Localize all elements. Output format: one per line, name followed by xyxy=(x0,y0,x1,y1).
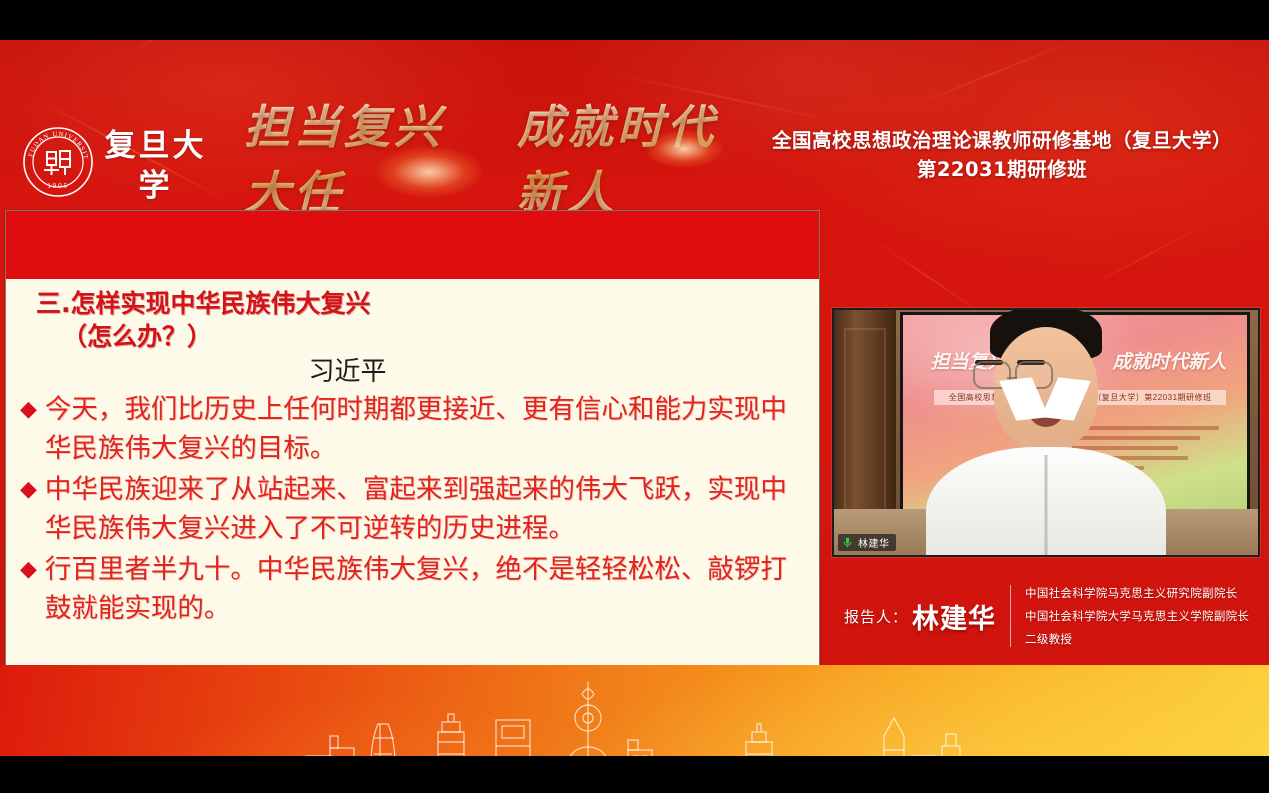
diamond-bullet-icon: ◆ xyxy=(20,389,37,429)
screen-slogan-right: 成就时代新人 xyxy=(1112,347,1226,374)
presentation-slide[interactable]: 三.怎样实现中华民族伟大复兴 （怎么办？） 习近平 ◆ 今天，我们比历史上任何时… xyxy=(5,210,820,667)
slide-bullet: ◆ 中华民族迎来了从站起来、富起来到强起来的伟大飞跃，实现中华民族伟大复兴进入了… xyxy=(20,470,805,548)
speaker-name: 林建华 xyxy=(912,597,996,636)
speaker-info-bar: 报告人： 林建华 中国社会科学院马克思主义研究院副院长 中国社会科学院大学马克思… xyxy=(832,570,1256,662)
light-streak xyxy=(1080,220,1213,292)
speaker-title-2: 中国社会科学院大学马克思主义学院副院长 xyxy=(1025,605,1256,628)
slide-bullet-text: 中华民族迎来了从站起来、富起来到强起来的伟大飞跃，实现中华民族伟大复兴进入了不可… xyxy=(45,470,805,548)
event-header: FUDAN UNIVERSITY 1905 复旦大学 xyxy=(0,40,1269,170)
slide-author: 习近平 xyxy=(20,351,805,388)
letterbox-top xyxy=(0,0,1269,40)
speaker-identity: 报告人： 林建华 xyxy=(832,597,996,636)
fudan-seal-icon: FUDAN UNIVERSITY 1905 xyxy=(22,126,94,198)
program-title-line2: 第22031期研修班 xyxy=(744,157,1260,183)
participant-name: 林建华 xyxy=(858,535,890,550)
speaker-titles: 中国社会科学院马克思主义研究院副院长 中国社会科学院大学马克思主义学院副院长 二… xyxy=(1025,582,1256,651)
slogan-left: 担当复兴大任 xyxy=(244,91,491,223)
slide-body: 三.怎样实现中华民族伟大复兴 （怎么办？） 习近平 ◆ 今天，我们比历史上任何时… xyxy=(6,279,819,628)
webinar-screen: FUDAN UNIVERSITY 1905 复旦大学 xyxy=(0,0,1269,793)
slogan-right: 成就时代新人 xyxy=(517,91,764,223)
microphone-icon xyxy=(841,536,854,549)
slide-title-line1: 三.怎样实现中华民族伟大复兴 xyxy=(36,287,805,320)
university-name-cn: 复旦大学 xyxy=(88,126,223,206)
program-title: 全国高校思想政治理论课教师研修基地（复旦大学） 第22031期研修班 xyxy=(744,128,1260,183)
video-background: 担当复兴大任 成就时代新人 全国高校思想政治理论课教师研修基地（复旦大学）第22… xyxy=(834,310,1258,555)
presenter-figure xyxy=(921,375,1171,555)
svg-text:1905: 1905 xyxy=(47,181,68,190)
presenter-video[interactable]: 担当复兴大任 成就时代新人 全国高校思想政治理论课教师研修基地（复旦大学）第22… xyxy=(832,308,1260,557)
presenter-shirt xyxy=(926,447,1166,555)
diamond-bullet-icon: ◆ xyxy=(20,549,37,589)
shanghai-skyline-icon xyxy=(0,676,1269,756)
letterbox-bottom xyxy=(0,756,1269,793)
speaker-title-3: 二级教授 xyxy=(1025,628,1256,651)
slide-title: 三.怎样实现中华民族伟大复兴 （怎么办？） xyxy=(20,287,805,353)
speaker-title-1: 中国社会科学院马克思主义研究院副院长 xyxy=(1025,582,1256,605)
speaker-divider xyxy=(1010,585,1011,647)
presentation-canvas: FUDAN UNIVERSITY 1905 复旦大学 xyxy=(0,40,1269,756)
speaker-label: 报告人： xyxy=(844,606,908,627)
slide-bullet-text: 今天，我们比历史上任何时期都更接近、更有信心和能力实现中华民族伟大复兴的目标。 xyxy=(45,390,805,468)
slide-bullet-text: 行百里者半九十。中华民族伟大复兴，绝不是轻轻松松、敲锣打鼓就能实现的。 xyxy=(45,550,805,628)
event-slogan: 担当复兴大任 成就时代新人 xyxy=(244,118,764,196)
participant-name-badge: 林建华 xyxy=(838,534,896,551)
footer-banner xyxy=(0,665,1269,756)
diamond-bullet-icon: ◆ xyxy=(20,469,37,509)
slide-top-band xyxy=(6,211,819,279)
program-title-line1: 全国高校思想政治理论课教师研修基地（复旦大学） xyxy=(744,128,1260,154)
slide-title-line2: （怎么办？） xyxy=(36,320,805,353)
slide-bullet: ◆ 今天，我们比历史上任何时期都更接近、更有信心和能力实现中华民族伟大复兴的目标… xyxy=(20,390,805,468)
slide-bullet: ◆ 行百里者半九十。中华民族伟大复兴，绝不是轻轻松松、敲锣打鼓就能实现的。 xyxy=(20,550,805,628)
